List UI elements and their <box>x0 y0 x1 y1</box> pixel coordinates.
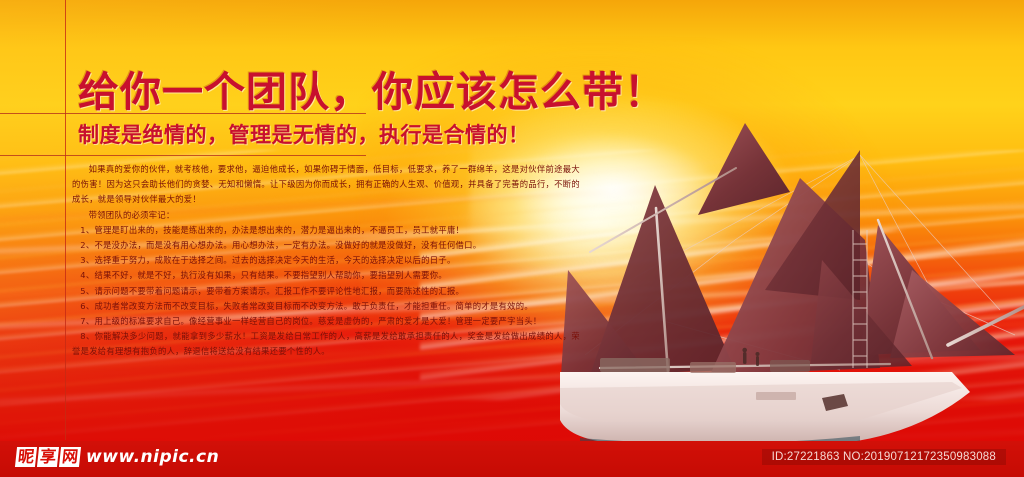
site-url[interactable]: www.nipic.cn <box>86 447 219 467</box>
nipic-logo-icon: 昵 享 网 <box>16 447 80 467</box>
body-list-item-5: 5、请示问题不要带着问题请示，要带着方案请示。汇报工作不要评论性地汇报，而要陈述… <box>72 284 580 299</box>
body-paragraph-intro: 如果真的爱你的伙伴，就考核他，要求他，逼迫他成长，如果你碍于情面，低目标，低要求… <box>72 162 580 208</box>
poster-canvas: 给你一个团队，你应该怎么带！ 制度是绝情的，管理是无情的，执行是合情的！ 如果真… <box>0 0 1024 477</box>
body-list-item-1: 1、管理是盯出来的，技能是练出来的，办法是想出来的，潜力是逼出来的，不逼员工，员… <box>72 223 580 238</box>
body-list-item-3: 3、选择重于努力，成败在于选择之间。过去的选择决定今天的生活，今天的选择决定以后… <box>72 253 580 268</box>
footer-bar: 昵 享 网 www.nipic.cn ID:27221863 NO:201907… <box>0 441 1024 477</box>
body-list-item-4: 4、结果不好，就是不好，执行没有如果，只有结果。不要指望别人帮助你，要指望别人需… <box>72 268 580 283</box>
body-list-item-7: 7、用上级的标准要求自己。像经营事业一样经营自己的岗位。慈爱是虚伪的，严肃的爱才… <box>72 314 580 329</box>
body-list-item-6: 6、成功者常改变方法而不改变目标，失败者常改变目标而不改变方法。敢于负责任，才能… <box>72 299 580 314</box>
body-list-item-8: 8、你能解决多少问题，就能拿到多少薪水！工资是发给日常工作的人，高薪是发给敢承担… <box>72 329 580 359</box>
poster-body-copy: 如果真的爱你的伙伴，就考核他，要求他，逼迫他成长，如果你碍于情面，低目标，低要求… <box>72 162 580 360</box>
logo-char-2: 享 <box>37 447 59 467</box>
poster-subtitle: 制度是绝情的，管理是无情的，执行是合情的！ <box>78 119 530 149</box>
site-branding[interactable]: 昵 享 网 www.nipic.cn <box>16 447 219 467</box>
body-paragraph-lead: 带领团队的必须牢记： <box>72 208 580 223</box>
logo-char-1: 昵 <box>15 447 37 467</box>
decorative-vertical-rule <box>65 0 66 440</box>
poster-title: 给你一个团队，你应该怎么带！ <box>78 58 666 118</box>
logo-char-3: 网 <box>59 447 81 467</box>
decorative-rule-below-subtitle <box>0 155 366 156</box>
body-list-item-2: 2、不是没办法，而是没有用心想办法。用心想办法，一定有办法。没做好的就是没做好，… <box>72 238 580 253</box>
asset-id-badge: ID:27221863 NO:20190712172350983088 <box>762 449 1006 465</box>
sailing-ship-image <box>560 120 1024 450</box>
